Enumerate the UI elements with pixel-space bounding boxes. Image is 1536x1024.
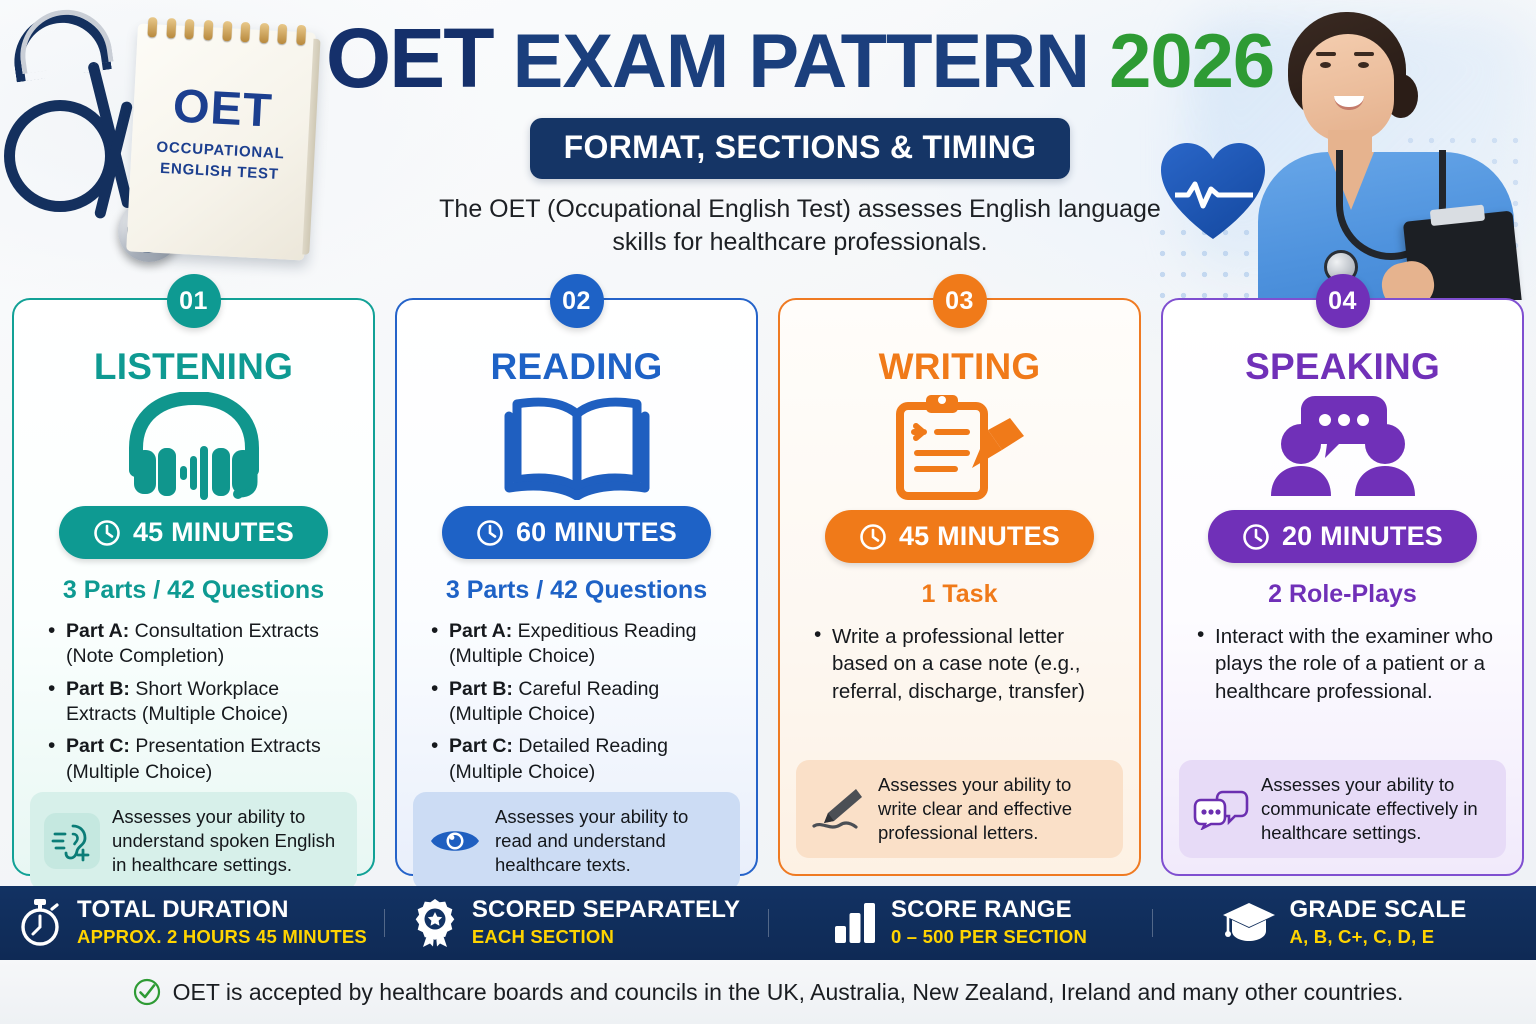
footer-text: OET is accepted by healthcare boards and… — [173, 979, 1404, 1006]
duration-text-speaking: 20 MINUTES — [1282, 521, 1443, 552]
bullet-label: Part B: — [66, 678, 130, 700]
summary-item-score-range: SCORE RANGE 0 – 500 PER SECTION — [768, 897, 1152, 949]
assessment-note-text: Assesses your ability to understand spok… — [112, 805, 343, 877]
section-cards: 01 LISTENING 45 MINUTES — [0, 298, 1536, 876]
two-people-speech-icon — [1179, 392, 1506, 504]
summary-label: SCORED SEPARATELY — [472, 897, 740, 924]
clock-icon — [93, 519, 121, 547]
notepad-spiral-binding — [147, 17, 306, 43]
list-item: Part A: Consultation Extracts (Note Comp… — [46, 619, 349, 670]
card-title-reading: READING — [413, 346, 740, 388]
duration-pill-speaking: 20 MINUTES — [1208, 510, 1477, 563]
duration-text-reading: 60 MINUTES — [516, 517, 677, 548]
intro-paragraph: The OET (Occupational English Test) asse… — [300, 193, 1300, 259]
summary-value: A, B, C+, C, D, E — [1290, 925, 1467, 949]
bar-chart-icon — [833, 901, 877, 945]
list-item: Write a professional letter based on a c… — [812, 623, 1115, 705]
notepad-line-2: ENGLISH TEST — [160, 160, 280, 183]
parts-summary-reading: 3 Parts / 42 Questions — [413, 576, 740, 605]
duration-pill-writing: 45 MINUTES — [825, 510, 1094, 563]
bullet-text: Interact with the examiner who plays the… — [1215, 625, 1493, 703]
nurse-face — [1302, 34, 1394, 142]
card-listening[interactable]: 01 LISTENING 45 MINUTES — [12, 298, 375, 876]
card-title-speaking: SPEAKING — [1179, 346, 1506, 388]
clock-icon — [476, 519, 504, 547]
card-number-badge: 01 — [167, 274, 221, 328]
parts-summary-listening: 3 Parts / 42 Questions — [30, 576, 357, 605]
intro-line-1: The OET (Occupational English Test) asse… — [439, 195, 1161, 223]
nurse-eye-right — [1358, 62, 1369, 68]
assessment-note-reading: Assesses your ability to read and unders… — [413, 792, 740, 890]
bullet-label: Part A: — [449, 620, 512, 642]
oet-notepad: OET OCCUPATIONAL ENGLISH TEST — [126, 23, 316, 260]
check-circle-icon — [133, 978, 161, 1006]
list-item: Part A: Expeditious Reading (Multiple Ch… — [429, 619, 732, 670]
bullet-label: Part B: — [449, 678, 513, 700]
summary-item-grade-scale: GRADE SCALE A, B, C+, C, D, E — [1152, 897, 1536, 949]
list-item: Part B: Short Workplace Extracts (Multip… — [46, 677, 349, 728]
pen-writing-icon — [810, 781, 866, 837]
summary-item-scored-separately: SCORED SEPARATELY EACH SECTION — [384, 897, 768, 949]
bullet-label: Part A: — [66, 620, 129, 642]
subtitle-pill: FORMAT, SECTIONS & TIMING — [530, 118, 1071, 179]
headphones-icon — [30, 392, 357, 500]
nurse-eye-left — [1320, 62, 1331, 68]
summary-value: 0 – 500 PER SECTION — [891, 925, 1087, 949]
bullet-list-writing: Write a professional letter based on a c… — [812, 623, 1115, 712]
card-number-badge: 02 — [550, 274, 604, 328]
footer: OET is accepted by healthcare boards and… — [0, 960, 1536, 1024]
clock-icon — [1242, 523, 1270, 551]
list-item: Part B: Careful Reading (Multiple Choice… — [429, 677, 732, 728]
summary-item-total-duration: TOTAL DURATION APPROX. 2 HOURS 45 MINUTE… — [0, 897, 384, 949]
clock-icon — [859, 523, 887, 551]
card-reading[interactable]: 02 READING 60 MINUTES 3 Parts / 42 Quest… — [395, 298, 758, 876]
duration-pill-reading: 60 MINUTES — [442, 506, 711, 559]
assessment-note-speaking: Assesses your ability to communicate eff… — [1179, 760, 1506, 858]
intro-line-2: skills for healthcare professionals. — [612, 228, 987, 256]
bullet-text: Write a professional letter based on a c… — [832, 625, 1085, 703]
summary-text: TOTAL DURATION APPROX. 2 HOURS 45 MINUTE… — [77, 897, 367, 949]
stopwatch-icon — [17, 898, 63, 948]
card-writing[interactable]: 03 WRITING 45 MINUTES 1 Task — [778, 298, 1141, 876]
summary-label: SCORE RANGE — [891, 897, 1087, 924]
duration-text-listening: 45 MINUTES — [133, 517, 294, 548]
ear-listening-icon — [44, 813, 100, 869]
list-item: Interact with the examiner who plays the… — [1195, 623, 1498, 705]
parts-summary-writing: 1 Task — [796, 580, 1123, 609]
nurse-eyebrow-left — [1316, 52, 1336, 56]
assessment-note-text: Assesses your ability to write clear and… — [878, 773, 1109, 845]
assessment-note-text: Assesses your ability to communicate eff… — [1261, 773, 1492, 845]
summary-label: TOTAL DURATION — [77, 897, 367, 924]
summary-value: EACH SECTION — [472, 925, 740, 949]
clipboard-pencil-icon — [796, 392, 1123, 504]
title-exam-pattern: EXAM PATTERN — [513, 19, 1089, 104]
header: OET EXAM PATTERN 2026 FORMAT, SECTIONS &… — [300, 14, 1300, 259]
card-title-listening: LISTENING — [30, 346, 357, 388]
parts-summary-speaking: 2 Role-Plays — [1179, 580, 1506, 609]
summary-bar: TOTAL DURATION APPROX. 2 HOURS 45 MINUTE… — [0, 886, 1536, 960]
bullet-list-speaking: Interact with the examiner who plays the… — [1195, 623, 1498, 712]
notepad-brand-text: OET — [132, 75, 313, 139]
card-number-badge: 03 — [933, 274, 987, 328]
nurse-eyebrow-right — [1354, 52, 1374, 56]
graduation-cap-icon — [1222, 901, 1276, 945]
bullet-label: Part C: — [66, 735, 130, 757]
summary-value: APPROX. 2 HOURS 45 MINUTES — [77, 925, 367, 949]
title-year: 2026 — [1109, 19, 1274, 104]
chat-bubbles-icon — [1193, 781, 1249, 837]
summary-text: SCORE RANGE 0 – 500 PER SECTION — [891, 897, 1087, 949]
bullet-list-reading: Part A: Expeditious Reading (Multiple Ch… — [429, 619, 732, 792]
summary-text: GRADE SCALE A, B, C+, C, D, E — [1290, 897, 1467, 949]
open-book-icon — [413, 392, 740, 500]
stethoscope-notepad-illustration: OET OCCUPATIONAL ENGLISH TEST — [0, 0, 320, 290]
bullet-list-listening: Part A: Consultation Extracts (Note Comp… — [46, 619, 349, 792]
summary-text: SCORED SEPARATELY EACH SECTION — [472, 897, 740, 949]
assessment-note-writing: Assesses your ability to write clear and… — [796, 760, 1123, 858]
bullet-label: Part C: — [449, 735, 513, 757]
card-number-badge: 04 — [1316, 274, 1370, 328]
title-oet: OET — [326, 11, 493, 105]
eye-icon — [427, 813, 483, 869]
duration-pill-listening: 45 MINUTES — [59, 506, 328, 559]
card-title-writing: WRITING — [796, 346, 1123, 388]
duration-text-writing: 45 MINUTES — [899, 521, 1060, 552]
award-ribbon-icon — [412, 897, 458, 949]
notepad-line-1: OCCUPATIONAL — [156, 139, 285, 163]
assessment-note-text: Assesses your ability to read and unders… — [495, 805, 726, 877]
assessment-note-listening: Assesses your ability to understand spok… — [30, 792, 357, 890]
card-speaking[interactable]: 04 SPEAKING 20 MINUTES 2 Role-Plays I — [1161, 298, 1524, 876]
notepad-subtitle-text: OCCUPATIONAL ENGLISH TEST — [130, 135, 310, 187]
page-title: OET EXAM PATTERN 2026 — [300, 14, 1300, 102]
summary-label: GRADE SCALE — [1290, 897, 1467, 924]
list-item: Part C: Presentation Extracts (Multiple … — [46, 734, 349, 785]
list-item: Part C: Detailed Reading (Multiple Choic… — [429, 734, 732, 785]
